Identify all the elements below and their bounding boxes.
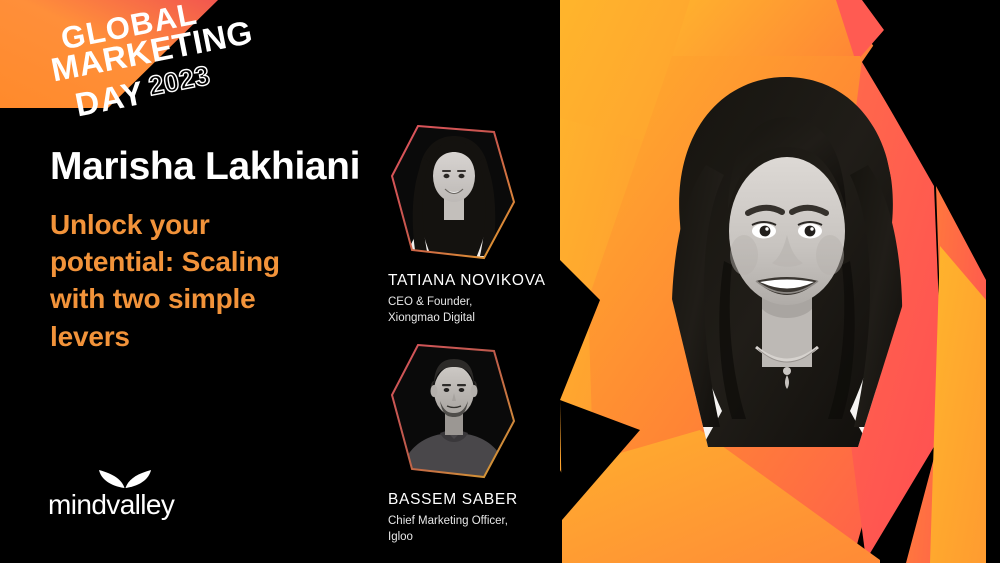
speaker-name: TATIANA NOVIKOVA xyxy=(388,272,588,290)
speaker-portrait-frame xyxy=(388,337,520,485)
speaker-portrait-2 xyxy=(388,337,520,485)
speaker-name: BASSEM SABER xyxy=(388,491,588,509)
talk-title-line-1: Unlock your xyxy=(50,206,360,243)
talk-title-line-2: potential: Scaling xyxy=(50,243,360,280)
event-logo: GLOBAL MARKETING DAY 2023 xyxy=(0,0,300,135)
speaker-portrait-frame xyxy=(388,118,520,266)
mindvalley-leaf-icon xyxy=(98,462,152,488)
speaker-role: Chief Marketing Officer, Igloo xyxy=(388,514,588,545)
speaker-role-line-2: Igloo xyxy=(388,530,588,546)
speaker-role-line-2: Xiongmao Digital xyxy=(388,311,588,327)
talk-title: Unlock your potential: Scaling with two … xyxy=(50,206,360,355)
talk-title-line-3: with two simple xyxy=(50,280,360,317)
featured-speaker-portrait xyxy=(620,55,950,485)
speaker-portrait-1 xyxy=(388,118,520,266)
speaker-role: CEO & Founder, Xiongmao Digital xyxy=(388,295,588,326)
talk-title-line-4: levers xyxy=(50,318,360,355)
speaker-role-line-1: CEO & Founder, xyxy=(388,295,588,311)
page-title: Marisha Lakhiani xyxy=(50,146,360,189)
mindvalley-logo: mindvalley xyxy=(48,462,228,528)
mindvalley-wordmark: mindvalley xyxy=(48,489,174,521)
speaker-card: TATIANA NOVIKOVA CEO & Founder, Xiongmao… xyxy=(388,118,588,326)
speaker-card: BASSEM SABER Chief Marketing Officer, Ig… xyxy=(388,337,588,545)
presentation-slide: GLOBAL MARKETING DAY 2023 Marisha Lakhia… xyxy=(0,0,1000,563)
speaker-role-line-1: Chief Marketing Officer, xyxy=(388,514,588,530)
